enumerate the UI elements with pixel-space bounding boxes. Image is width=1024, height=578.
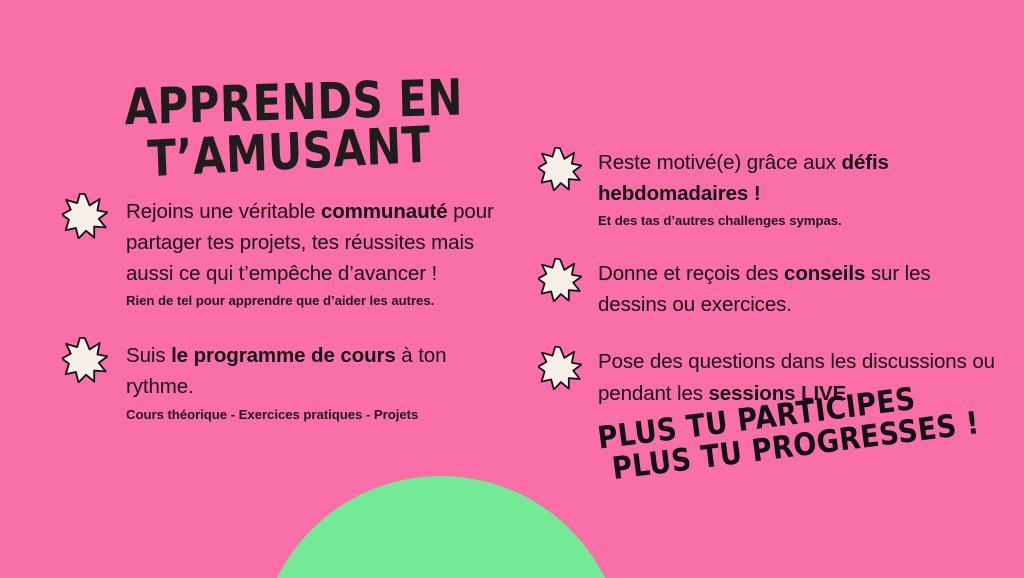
starburst-icon — [538, 346, 584, 392]
page-title: APPRENDS EN T’AMUSANT — [124, 72, 465, 180]
starburst-icon — [62, 337, 108, 383]
text-emphasis: le programme de cours — [171, 344, 396, 367]
list-item-text: Donne et reçois des conseils sur les des… — [598, 262, 931, 316]
list-item: Reste motivé(e) grâce aux défis hebdomad… — [534, 147, 1004, 230]
page-title-line-2: T’AMUSANT — [147, 118, 465, 183]
list-item: Suis le programme de cours à ton rythme.… — [56, 340, 516, 423]
text-before: Suis — [126, 344, 171, 367]
green-circle-decoration — [258, 476, 624, 578]
text-emphasis: communauté — [321, 200, 448, 223]
list-item-subtext: Cours théorique - Exercices pratiques - … — [126, 406, 516, 424]
starburst-icon — [538, 147, 584, 193]
list-item-text: Reste motivé(e) grâce aux défis hebdomad… — [598, 151, 889, 205]
text-before: Donne et reçois des — [598, 262, 784, 285]
list-item-text: Rejoins une véritable communauté pour pa… — [126, 200, 494, 285]
list-item-text: Suis le programme de cours à ton rythme. — [126, 344, 446, 398]
text-before: Rejoins une véritable — [126, 200, 321, 223]
slide-canvas: APPRENDS EN T’AMUSANT Rejoins une vérita… — [0, 0, 1024, 578]
list-item: Donne et reçois des conseils sur les des… — [534, 258, 1004, 320]
list-item: Rejoins une véritable communauté pour pa… — [56, 196, 516, 310]
text-before: Reste motivé(e) grâce aux — [598, 151, 842, 174]
starburst-icon — [62, 193, 108, 239]
text-emphasis: conseils — [784, 262, 865, 285]
list-item-subtext: Rien de tel pour apprendre que d’aider l… — [126, 292, 516, 310]
left-column: Rejoins une véritable communauté pour pa… — [56, 196, 516, 423]
right-column: Reste motivé(e) grâce aux défis hebdomad… — [534, 147, 1004, 409]
starburst-icon — [538, 258, 584, 304]
list-item-subtext: Et des tas d’autres challenges sympas. — [598, 212, 1004, 230]
